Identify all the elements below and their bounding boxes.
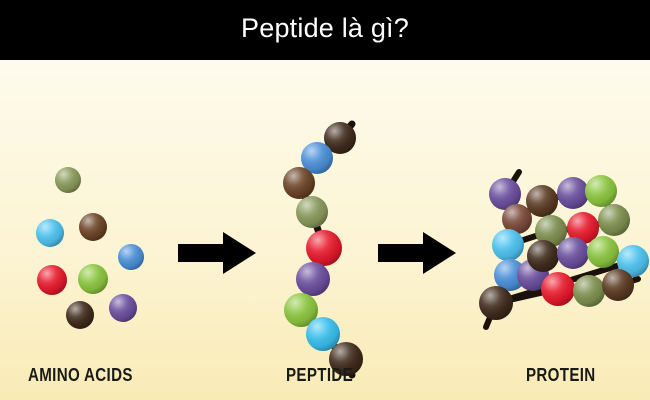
amino-acid-sphere — [37, 265, 67, 295]
amino-acid-sphere — [66, 301, 94, 329]
protein-sphere — [598, 204, 630, 236]
infographic-page: Peptide là gì? — [0, 0, 650, 400]
peptide-sphere — [296, 196, 328, 228]
illustration-canvas: AMINO ACIDS PEPTIDE PROTEIN — [0, 60, 650, 400]
page-title: Peptide là gì? — [241, 15, 409, 45]
protein-sphere — [573, 275, 605, 307]
amino-acid-sphere — [118, 244, 144, 270]
protein-sphere — [557, 177, 589, 209]
caption-amino-acids: AMINO ACIDS — [28, 365, 133, 386]
stage-protein — [479, 175, 649, 320]
protein-sphere — [585, 175, 617, 207]
protein-sphere — [479, 286, 513, 320]
amino-acid-sphere — [79, 213, 107, 241]
protein-sphere — [587, 236, 619, 268]
amino-acid-sphere — [55, 167, 81, 193]
caption-peptide: PEPTIDE — [286, 365, 353, 386]
amino-acid-sphere — [36, 219, 64, 247]
protein-sphere — [557, 237, 589, 269]
amino-acid-sphere — [109, 294, 137, 322]
amino-acid-sphere — [78, 264, 108, 294]
protein-sphere — [527, 240, 559, 272]
peptide-sphere — [306, 230, 342, 266]
peptide-sphere — [283, 167, 315, 199]
protein-sphere — [526, 185, 558, 217]
protein-sphere — [541, 272, 575, 306]
stage-amino-acids — [36, 167, 144, 329]
caption-protein: PROTEIN — [526, 365, 596, 386]
molecule-diagram — [0, 60, 650, 400]
arrow-peptide-to-protein — [378, 232, 456, 274]
arrow-amino-to-peptide — [178, 232, 256, 274]
peptide-sphere — [296, 262, 330, 296]
stage-peptide — [283, 122, 363, 376]
peptide-sphere — [306, 317, 340, 351]
protein-sphere — [492, 229, 524, 261]
protein-sphere — [602, 269, 634, 301]
title-bar: Peptide là gì? — [0, 0, 650, 60]
